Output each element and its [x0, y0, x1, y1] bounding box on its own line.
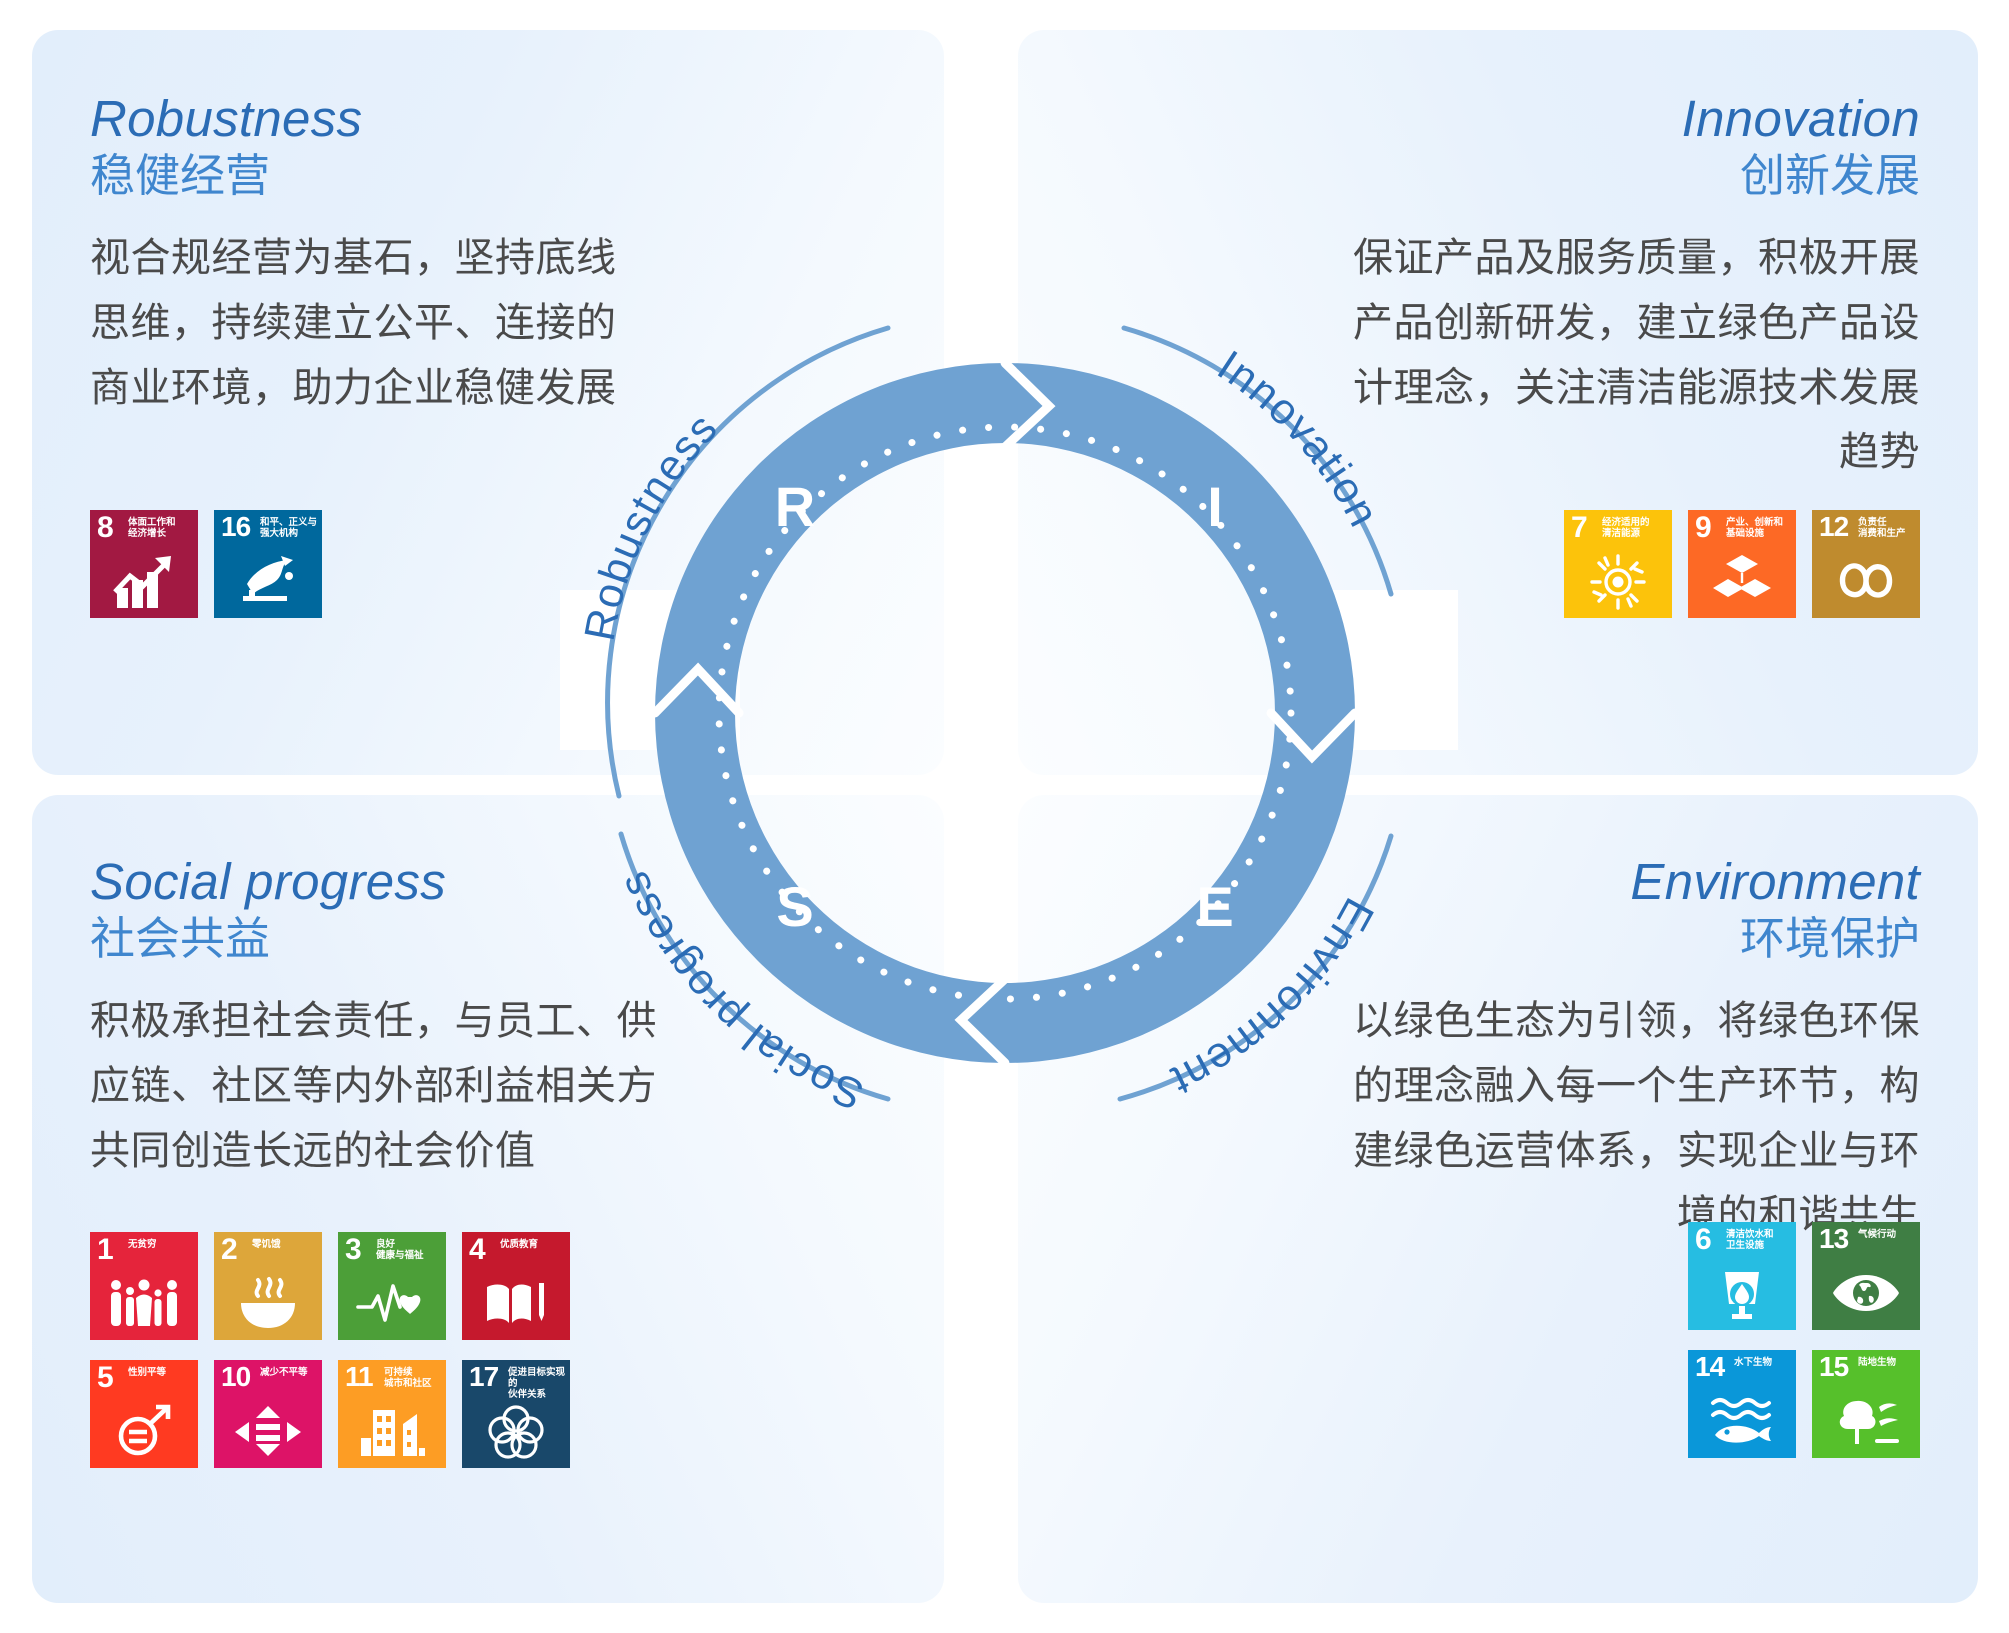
panel-robustness-sdg-row: 8 体面工作和经济增长 16 和平、正义与强大机构 — [90, 510, 322, 618]
sdg-tile-14[interactable]: 14 水下生物 — [1688, 1350, 1796, 1458]
panel-innovation-sdg-row: 7 经济适用的清洁能源 9 产业、创新和基础设施 — [1564, 510, 1920, 618]
sdg-13-label: 气候行动 — [1858, 1229, 1920, 1240]
sdg-5-number: 5 — [97, 1363, 113, 1393]
interlocking-circles-icon — [462, 1398, 570, 1464]
sdg-6-label: 清洁饮水和卫生设施 — [1726, 1229, 1788, 1251]
rise-letter-E: E — [1196, 875, 1233, 938]
book-pencil-icon — [462, 1270, 570, 1336]
sdg-17-label: 促进目标实现的伙伴关系 — [508, 1367, 570, 1401]
rise-wheel-diagram: R I E S Robustness Innovation Environmen… — [488, 196, 1522, 1230]
sdg-4-number: 4 — [469, 1235, 485, 1265]
sdg-16-number: 16 — [221, 513, 250, 541]
sdg-10-number: 10 — [221, 1363, 250, 1391]
sdg-10-label: 减少不平等 — [260, 1367, 322, 1378]
donut-segments — [655, 363, 1355, 1063]
people-family-icon — [90, 1270, 198, 1336]
dove-gavel-icon — [214, 548, 322, 614]
sdg-13-number: 13 — [1819, 1225, 1848, 1253]
fish-waves-icon — [1688, 1388, 1796, 1454]
water-glass-icon — [1688, 1260, 1796, 1326]
sdg-tile-5[interactable]: 5 性别平等 — [90, 1360, 198, 1468]
sdg-tile-8[interactable]: 8 体面工作和经济增长 — [90, 510, 198, 618]
sdg-tile-16[interactable]: 16 和平、正义与强大机构 — [214, 510, 322, 618]
sdg-2-label: 零饥饿 — [252, 1239, 314, 1250]
rise-letter-I: I — [1207, 475, 1223, 538]
sdg-12-label: 负责任消费和生产 — [1858, 517, 1920, 539]
sdg-tile-9[interactable]: 9 产业、创新和基础设施 — [1688, 510, 1796, 618]
bowl-icon — [214, 1270, 322, 1336]
tree-birds-icon — [1812, 1388, 1920, 1454]
sdg-17-number: 17 — [469, 1363, 498, 1391]
sdg-tile-15[interactable]: 15 陆地生物 — [1812, 1350, 1920, 1458]
sdg-16-label: 和平、正义与强大机构 — [260, 517, 322, 539]
sdg-12-number: 12 — [1819, 513, 1848, 541]
sdg-tile-17[interactable]: 17 促进目标实现的伙伴关系 — [462, 1360, 570, 1468]
sdg-7-label: 经济适用的清洁能源 — [1602, 517, 1664, 539]
sdg-1-label: 无贫穷 — [128, 1239, 190, 1250]
panel-social-sdg-row-2: 5 性别平等 10 减少不平等 1 — [90, 1360, 570, 1468]
sdg-4-label: 优质教育 — [500, 1239, 562, 1250]
sdg-tile-2[interactable]: 2 零饥饿 — [214, 1232, 322, 1340]
sdg-11-label: 可持续城市和社区 — [384, 1367, 446, 1389]
cubes-icon — [1688, 548, 1796, 614]
sdg-6-number: 6 — [1695, 1225, 1711, 1255]
sdg-7-number: 7 — [1571, 513, 1587, 543]
sdg-15-label: 陆地生物 — [1858, 1357, 1920, 1368]
sdg-5-label: 性别平等 — [128, 1367, 190, 1378]
heartbeat-icon — [338, 1270, 446, 1336]
gender-equality-icon — [90, 1398, 198, 1464]
sdg-2-number: 2 — [221, 1235, 237, 1265]
panel-environment-sdg-row-2: 14 水下生物 15 陆地生物 — [1688, 1350, 1920, 1458]
sdg-15-number: 15 — [1819, 1353, 1848, 1381]
rise-letter-S: S — [776, 875, 813, 938]
sdg-tile-10[interactable]: 10 减少不平等 — [214, 1360, 322, 1468]
rise-letters: R I E S — [775, 475, 1234, 938]
sdg-tile-4[interactable]: 4 优质教育 — [462, 1232, 570, 1340]
sdg-9-label: 产业、创新和基础设施 — [1726, 517, 1788, 539]
equal-arrows-icon — [214, 1398, 322, 1464]
sdg-11-number: 11 — [345, 1363, 373, 1391]
segment-robustness — [655, 363, 1005, 713]
eye-earth-icon — [1812, 1260, 1920, 1326]
sun-icon — [1564, 548, 1672, 614]
sdg-8-label: 体面工作和经济增长 — [128, 517, 190, 539]
sdg-3-number: 3 — [345, 1235, 361, 1265]
panel-innovation-title-en: Innovation — [1348, 92, 1920, 145]
sdg-tile-3[interactable]: 3 良好健康与福祉 — [338, 1232, 446, 1340]
sdg-tile-1[interactable]: 1 无贫穷 — [90, 1232, 198, 1340]
rise-letter-R: R — [775, 475, 815, 538]
sdg-tile-13[interactable]: 13 气候行动 — [1812, 1222, 1920, 1330]
sdg-14-label: 水下生物 — [1734, 1357, 1796, 1368]
sdg-14-number: 14 — [1695, 1353, 1724, 1381]
sdg-tile-11[interactable]: 11 可持续城市和社区 — [338, 1360, 446, 1468]
sdg-3-label: 良好健康与福祉 — [376, 1239, 438, 1261]
infinity-icon — [1812, 548, 1920, 614]
sdg-tile-7[interactable]: 7 经济适用的清洁能源 — [1564, 510, 1672, 618]
sdg-1-number: 1 — [97, 1235, 113, 1265]
infographic-canvas: Robustness 稳健经营 视合规经营为基石，坚持底线思维，持续建立公平、连… — [0, 0, 2009, 1633]
sdg-9-number: 9 — [1695, 513, 1711, 543]
buildings-icon — [338, 1398, 446, 1464]
sdg-8-number: 8 — [97, 513, 113, 543]
sdg-tile-12[interactable]: 12 负责任消费和生产 — [1812, 510, 1920, 618]
panel-environment-sdg-row-1: 6 清洁饮水和卫生设施 13 气候行动 — [1688, 1222, 1920, 1330]
panel-social-sdg-row-1: 1 无贫穷 2 零饥饿 — [90, 1232, 570, 1340]
panel-robustness-title-en: Robustness — [90, 92, 650, 145]
growth-chart-icon — [90, 548, 198, 614]
sdg-tile-6[interactable]: 6 清洁饮水和卫生设施 — [1688, 1222, 1796, 1330]
